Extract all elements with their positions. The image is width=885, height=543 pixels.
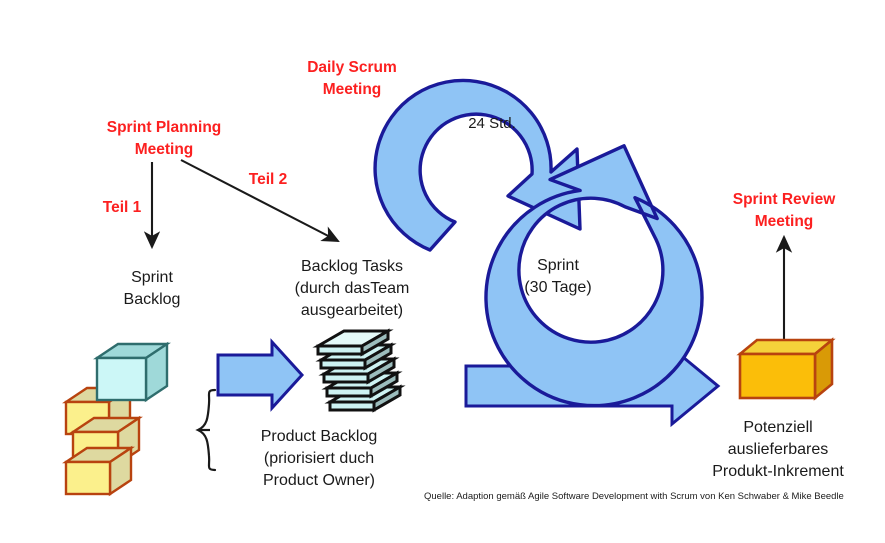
daily-scrum-line1: Daily Scrum — [307, 59, 397, 76]
heading-sprint-review-meeting: Sprint Review Meeting — [733, 191, 836, 230]
backlog-tasks-line1: Backlog Tasks — [301, 258, 403, 275]
sprint-backlog-line1: Sprint — [131, 269, 173, 286]
product-backlog-boxes — [66, 388, 139, 494]
sprint-planning-line2: Meeting — [135, 141, 194, 158]
daily-scrum-cycle-arrow: 24 Std. — [375, 80, 580, 250]
product-increment-box — [740, 340, 832, 398]
daily-cycle-label: 24 Std. — [468, 115, 516, 132]
sprint-cycle-line2: (30 Tage) — [524, 279, 591, 296]
source-attribution: Quelle: Adaption gemäß Agile Software De… — [424, 491, 844, 502]
backlog-tasks-line2: (durch dasTeam — [295, 280, 410, 297]
heading-sprint-planning-meeting: Sprint Planning Meeting — [107, 119, 222, 158]
backlog-tasks-label: Backlog Tasks (durch dasTeam ausgearbeit… — [295, 258, 410, 319]
product-backlog-label: Product Backlog (priorisiert duch Produc… — [261, 428, 378, 489]
sprint-backlog-line2: Backlog — [124, 291, 181, 308]
increment-line2: auslieferbares — [728, 441, 829, 458]
sprint-review-line1: Sprint Review — [733, 191, 836, 208]
increment-line1: Potenziell — [743, 419, 812, 436]
scrum-diagram: Daily Scrum Meeting Sprint Planning Meet… — [0, 0, 885, 543]
source-suffix: von Ken Schwaber & Mike Beedle — [698, 491, 844, 502]
sprint-backlog-label: Sprint Backlog — [124, 269, 181, 308]
scrum-diagram-canvas: Daily Scrum Meeting Sprint Planning Meet… — [0, 0, 885, 543]
sprint-review-line2: Meeting — [755, 213, 814, 230]
product-backlog-box-3 — [66, 448, 131, 494]
product-backlog-line2: (priorisiert duch — [264, 450, 374, 467]
product-backlog-line1: Product Backlog — [261, 428, 378, 445]
teil1-label: Teil 1 — [103, 199, 142, 216]
source-prefix: Quelle: Adaption gemäß — [424, 491, 528, 502]
backlog-tasks-line3: ausgearbeitet) — [301, 302, 403, 319]
blue-arrow-backlog-to-tasks — [218, 342, 302, 408]
sprint-backlog-box — [97, 344, 167, 400]
teil2-label: Teil 2 — [249, 171, 287, 188]
product-backlog-line3: Product Owner) — [263, 472, 375, 489]
sprint-planning-line1: Sprint Planning — [107, 119, 222, 136]
backlog-tasks-paper-stack — [318, 331, 400, 410]
heading-daily-scrum-meeting: Daily Scrum Meeting — [307, 59, 397, 98]
source-italic: Agile Software Development with Scrum — [528, 491, 698, 502]
increment-line3: Produkt-Inkrement — [712, 463, 844, 480]
daily-scrum-line2: Meeting — [323, 81, 382, 98]
sprint-cycle-line1: Sprint — [537, 257, 579, 274]
product-increment-label: Potenziell auslieferbares Produkt-Inkrem… — [712, 419, 844, 480]
